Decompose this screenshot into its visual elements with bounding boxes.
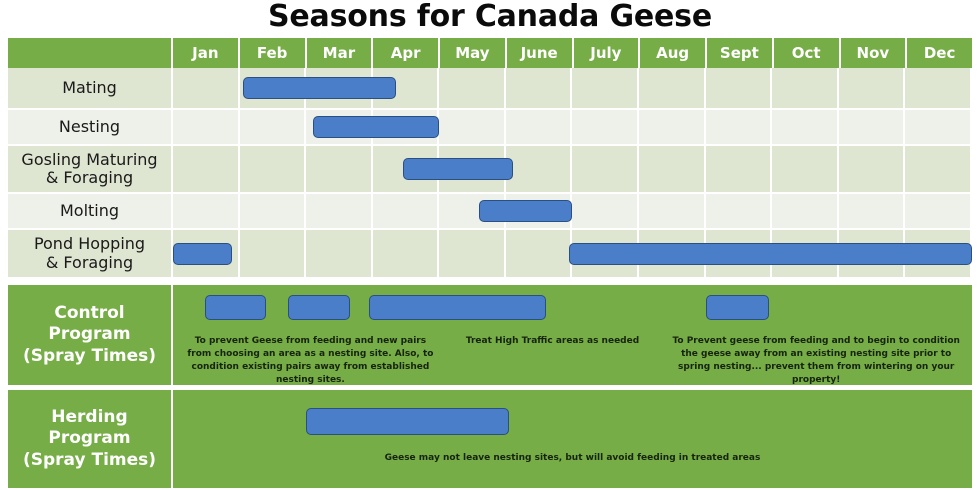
seasons-gantt-chart: Seasons for Canada Geese JanFebMarAprMay… bbox=[0, 0, 980, 490]
program-block: Herding Program(Spray Times)Geese may no… bbox=[8, 390, 972, 488]
gantt-row-track bbox=[173, 110, 972, 144]
gantt-row: Gosling Maturing& Foraging bbox=[8, 146, 972, 194]
gantt-cell-june bbox=[506, 68, 573, 108]
gantt-bar[interactable] bbox=[479, 200, 572, 222]
gantt-row: Nesting bbox=[8, 110, 972, 146]
gantt-row-track bbox=[173, 230, 972, 277]
program-bar[interactable] bbox=[706, 295, 769, 320]
program-block: Control Program(Spray Times)To prevent G… bbox=[8, 285, 972, 385]
gantt-cell-feb bbox=[240, 194, 307, 228]
gantt-bar[interactable] bbox=[403, 158, 513, 180]
gantt-row-label: Molting bbox=[8, 194, 173, 228]
month-header-dec: Dec bbox=[907, 38, 972, 68]
gantt-row-track bbox=[173, 146, 972, 192]
gantt-cell-dec bbox=[905, 110, 972, 144]
gantt-cell-mar bbox=[306, 230, 373, 277]
program-bar[interactable] bbox=[288, 295, 351, 320]
gantt-cell-sept bbox=[706, 68, 773, 108]
gantt-row-label: Gosling Maturing& Foraging bbox=[8, 146, 173, 192]
gantt-grid: MatingNestingGosling Maturing& ForagingM… bbox=[8, 68, 972, 279]
gantt-cell-feb bbox=[240, 146, 307, 192]
gantt-cell-june bbox=[506, 230, 573, 277]
gantt-cell-jan bbox=[173, 68, 240, 108]
gantt-cell-jan bbox=[173, 194, 240, 228]
program-body: Geese may not leave nesting sites, but w… bbox=[173, 390, 972, 488]
gantt-cell-july bbox=[572, 194, 639, 228]
gantt-cell-aug bbox=[639, 68, 706, 108]
gantt-cell-sept bbox=[706, 110, 773, 144]
gantt-row-label: Nesting bbox=[8, 110, 173, 144]
gantt-cell-jan bbox=[173, 110, 240, 144]
program-note: Geese may not leave nesting sites, but w… bbox=[277, 452, 868, 465]
gantt-row-track bbox=[173, 68, 972, 108]
gantt-cell-jan bbox=[173, 146, 240, 192]
gantt-cell-oct bbox=[772, 110, 839, 144]
program-note: To Prevent geese from feeding and to beg… bbox=[668, 335, 964, 387]
program-note: Treat High Traffic areas as needed bbox=[441, 335, 665, 348]
gantt-row-label: Pond Hopping& Foraging bbox=[8, 230, 173, 277]
gantt-cell-nov bbox=[839, 68, 906, 108]
gantt-row: Molting bbox=[8, 194, 972, 230]
month-header-oct: Oct bbox=[774, 38, 841, 68]
program-body: To prevent Geese from feeding and new pa… bbox=[173, 285, 972, 385]
program-bar[interactable] bbox=[369, 295, 545, 320]
gantt-row: Pond Hopping& Foraging bbox=[8, 230, 972, 279]
gantt-cell-aug bbox=[639, 110, 706, 144]
program-note: To prevent Geese from feeding and new pa… bbox=[183, 335, 439, 387]
gantt-cell-july bbox=[572, 146, 639, 192]
gantt-bar[interactable] bbox=[569, 243, 972, 265]
gantt-row: Mating bbox=[8, 68, 972, 110]
gantt-cell-dec bbox=[905, 146, 972, 192]
gantt-cell-may bbox=[439, 230, 506, 277]
program-bar[interactable] bbox=[306, 408, 509, 435]
program-label: Herding Program(Spray Times) bbox=[8, 390, 173, 488]
gantt-cell-june bbox=[506, 110, 573, 144]
gantt-cell-sept bbox=[706, 146, 773, 192]
gantt-cell-july bbox=[572, 68, 639, 108]
month-header-feb: Feb bbox=[240, 38, 307, 68]
gantt-cell-sept bbox=[706, 194, 773, 228]
header-corner-cell bbox=[8, 38, 173, 68]
gantt-cell-june bbox=[506, 146, 573, 192]
gantt-cell-may bbox=[439, 68, 506, 108]
gantt-cell-feb bbox=[240, 230, 307, 277]
gantt-bar[interactable] bbox=[313, 116, 440, 138]
gantt-bar[interactable] bbox=[243, 77, 396, 99]
gantt-cell-aug bbox=[639, 194, 706, 228]
gantt-cell-oct bbox=[772, 68, 839, 108]
month-header-aug: Aug bbox=[640, 38, 707, 68]
gantt-bar[interactable] bbox=[173, 243, 232, 265]
gantt-cell-apr bbox=[373, 230, 440, 277]
gantt-cell-oct bbox=[772, 194, 839, 228]
program-label: Control Program(Spray Times) bbox=[8, 285, 173, 385]
gantt-cell-may bbox=[439, 110, 506, 144]
gantt-row-track bbox=[173, 194, 972, 228]
gantt-cell-july bbox=[572, 110, 639, 144]
gantt-cell-dec bbox=[905, 68, 972, 108]
gantt-cell-feb bbox=[240, 110, 307, 144]
month-header-nov: Nov bbox=[841, 38, 908, 68]
gantt-cell-oct bbox=[772, 146, 839, 192]
month-header-row: JanFebMarAprMayJuneJulyAugSeptOctNovDec bbox=[8, 38, 972, 68]
page-title: Seasons for Canada Geese bbox=[0, 0, 980, 36]
month-header-jan: Jan bbox=[173, 38, 240, 68]
gantt-cell-dec bbox=[905, 194, 972, 228]
gantt-row-label: Mating bbox=[8, 68, 173, 108]
month-header-mar: Mar bbox=[307, 38, 374, 68]
month-header-apr: Apr bbox=[373, 38, 440, 68]
month-header-may: May bbox=[440, 38, 507, 68]
program-bar[interactable] bbox=[205, 295, 266, 320]
gantt-cell-aug bbox=[639, 146, 706, 192]
gantt-cell-mar bbox=[306, 194, 373, 228]
gantt-cell-nov bbox=[839, 146, 906, 192]
gantt-cell-nov bbox=[839, 194, 906, 228]
month-header-july: July bbox=[574, 38, 641, 68]
gantt-cell-nov bbox=[839, 110, 906, 144]
month-header-sept: Sept bbox=[707, 38, 774, 68]
gantt-cell-mar bbox=[306, 146, 373, 192]
gantt-cell-apr bbox=[373, 194, 440, 228]
month-header-june: June bbox=[507, 38, 574, 68]
